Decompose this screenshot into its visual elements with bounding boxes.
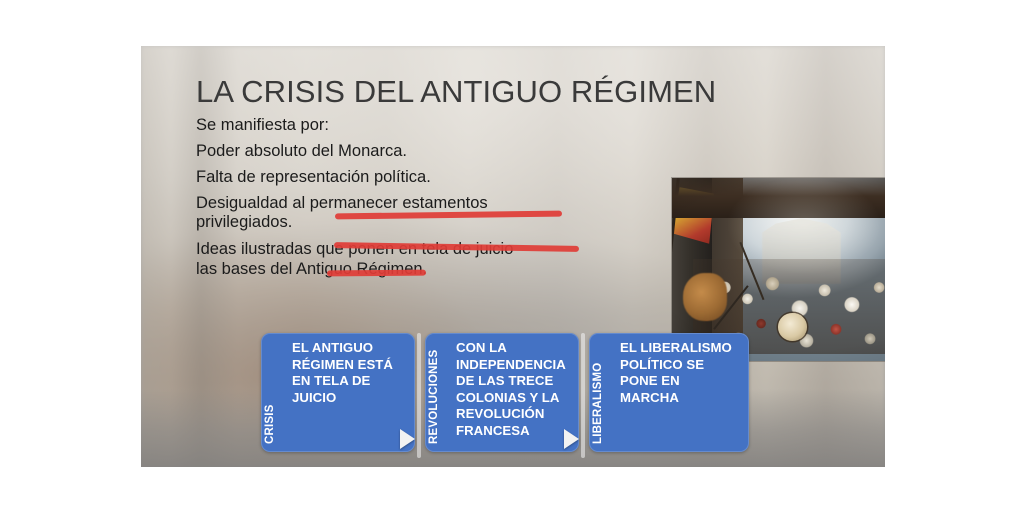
process-box-liberalismo-label: LIBERALISMO xyxy=(592,339,612,444)
red-underline-stroke-3 xyxy=(327,270,426,277)
process-box-revoluciones[interactable]: REVOLUCIONES CON LA INDEPENDENCIA DE LAS… xyxy=(425,333,579,452)
process-box-crisis-label: CRISIS xyxy=(264,339,284,444)
body-intro: Se manifiesta por: xyxy=(196,116,526,135)
process-box-crisis-text: EL ANTIGUO RÉGIMEN ESTÁ EN TELA DE JUICI… xyxy=(292,340,408,406)
body-bullet-1: Poder absoluto del Monarca. xyxy=(196,142,526,161)
slide-title: LA CRISIS DEL ANTIGUO RÉGIMEN xyxy=(196,73,716,111)
process-box-revoluciones-text: CON LA INDEPENDENCIA DE LAS TRECE COLONI… xyxy=(456,340,572,440)
slide-body-text: Se manifiesta por: Poder absoluto del Mo… xyxy=(196,116,526,279)
arrow-right-icon-1 xyxy=(400,429,415,449)
process-box-revoluciones-label: REVOLUCIONES xyxy=(428,339,448,444)
body-bullet-2: Falta de representación política. xyxy=(196,168,526,187)
connector-stem-1 xyxy=(417,333,421,458)
presentation-slide: LA CRISIS DEL ANTIGUO RÉGIMEN Se manifie… xyxy=(141,46,885,467)
connector-stem-2 xyxy=(581,333,585,458)
process-box-crisis[interactable]: CRISIS EL ANTIGUO RÉGIMEN ESTÁ EN TELA D… xyxy=(261,333,415,452)
process-box-liberalismo[interactable]: LIBERALISMO EL LIBERALISMO POLÍTICO SE P… xyxy=(589,333,749,452)
arrow-right-icon-2 xyxy=(564,429,579,449)
process-box-liberalismo-text: EL LIBERALISMO POLÍTICO SE PONE EN MARCH… xyxy=(620,340,742,406)
